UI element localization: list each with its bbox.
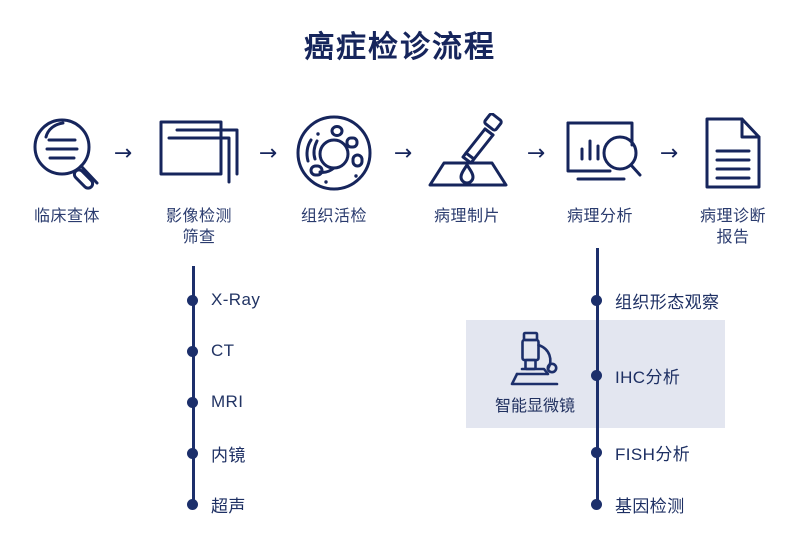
flow-step-label-line1: 病理诊断: [674, 206, 792, 227]
flow-step-label: 病理诊断 报告: [674, 206, 792, 248]
flow-step-label-line2: 筛查: [140, 227, 258, 248]
branch-item-label: IHC分析: [615, 363, 680, 388]
flow-step-label: 病理分析: [541, 206, 659, 227]
flow-step-label: 组织活检: [275, 206, 393, 227]
flow-step-diagnosis-report[interactable]: 病理诊断 报告: [674, 110, 792, 248]
flow-step-label: 病理制片: [408, 206, 526, 227]
branch-item-label: CT: [211, 341, 234, 361]
branch-item-gene-test[interactable]: 基因检测: [591, 492, 685, 516]
branch-item-endoscopy[interactable]: 内镜: [187, 441, 246, 465]
flow-step-tissue-biopsy[interactable]: 组织活检: [275, 110, 393, 227]
dropper-slide-icon: [408, 110, 526, 196]
flow-step-pathology-analysis[interactable]: 病理分析: [541, 110, 659, 227]
page-title: 癌症检诊流程: [0, 28, 800, 68]
branch-item-label: 内镜: [211, 441, 246, 466]
flow-step-label-line1: 影像检测: [140, 206, 258, 227]
diagram-canvas: 癌症检诊流程 智能显微镜 临床: [0, 0, 800, 542]
branch-item-xray[interactable]: X-Ray: [187, 288, 260, 312]
branch-dot: [187, 448, 198, 459]
cell-tissue-icon: [275, 110, 393, 196]
flow-step-imaging-screening[interactable]: 影像检测 筛查: [140, 110, 258, 248]
branch-item-ihc[interactable]: IHC分析: [591, 363, 680, 387]
branch-item-label: X-Ray: [211, 290, 260, 310]
branch-dot: [187, 295, 198, 306]
branch-item-label: 超声: [211, 492, 246, 517]
branch-item-tissue-morphology[interactable]: 组织形态观察: [591, 288, 719, 312]
flow-step-clinical-exam[interactable]: 临床查体: [8, 110, 126, 227]
flow-step-label: 临床查体: [8, 206, 126, 227]
branch-item-label: FISH分析: [615, 440, 690, 465]
branch-item-fish[interactable]: FISH分析: [591, 440, 690, 464]
image-stack-icon: [140, 110, 258, 196]
flow-arrow-1: →: [108, 140, 138, 168]
branch-item-ct[interactable]: CT: [187, 339, 234, 363]
flow-step-label-line2: 报告: [674, 227, 792, 248]
microscope-icon: [500, 330, 570, 392]
monitor-chart-magnifier-icon: [541, 110, 659, 196]
branch-item-label: MRI: [211, 392, 243, 412]
branch-item-ultrasound[interactable]: 超声: [187, 492, 246, 516]
branch-dot: [591, 295, 602, 306]
smart-microscope-label: 智能显微镜: [470, 396, 600, 418]
branch-item-label: 组织形态观察: [615, 288, 719, 313]
branch-dot: [187, 397, 198, 408]
branch-dot: [591, 499, 602, 510]
branch-item-label: 基因检测: [615, 492, 685, 517]
branch-dot: [187, 346, 198, 357]
branch-dot: [187, 499, 198, 510]
flow-step-label: 影像检测 筛查: [140, 206, 258, 248]
branch-dot: [591, 447, 602, 458]
flow-step-slide-preparation[interactable]: 病理制片: [408, 110, 526, 227]
document-report-icon: [674, 110, 792, 196]
branch-item-mri[interactable]: MRI: [187, 390, 243, 414]
branch-dot: [591, 370, 602, 381]
